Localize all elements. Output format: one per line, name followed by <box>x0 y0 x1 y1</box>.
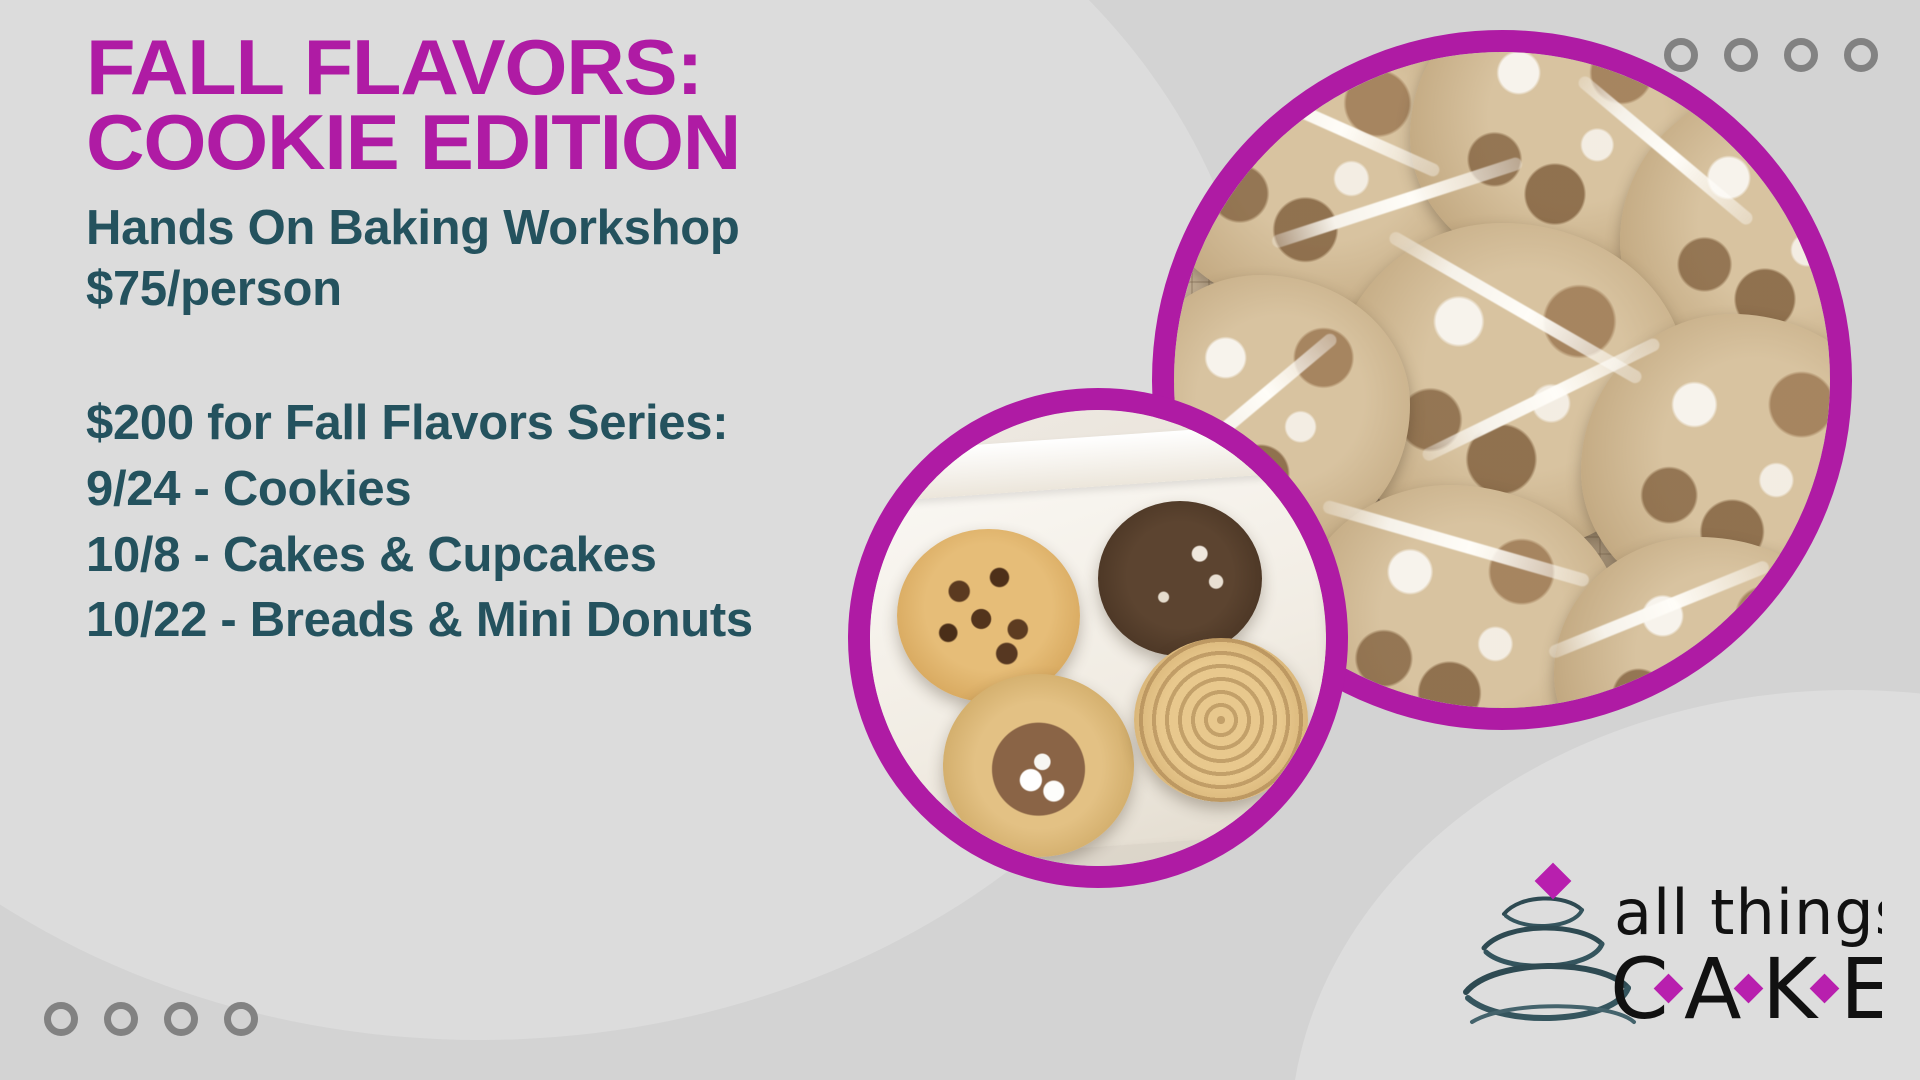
ring-icon <box>44 1002 78 1036</box>
poster-canvas: FALL FLAVORS: COOKIE EDITION Hands On Ba… <box>0 0 1920 1080</box>
cookie-double-chocolate <box>1098 501 1262 656</box>
series-item-1: 9/24 - Cookies <box>86 457 1006 523</box>
workshop-subtitle: Hands On Baking Workshop <box>86 198 1006 260</box>
cookie-swirl <box>1134 638 1307 802</box>
photo-image-assorted-cookies <box>870 410 1326 866</box>
decorative-rings-bottom-left <box>44 1002 258 1036</box>
ring-icon <box>224 1002 258 1036</box>
ring-icon <box>164 1002 198 1036</box>
logo-letter-e: E <box>1840 940 1882 1038</box>
brand-logo: all things C A K E <box>1462 852 1882 1052</box>
ring-icon <box>104 1002 138 1036</box>
subtitle-group: Hands On Baking Workshop $75/person <box>86 198 1006 321</box>
cookie-smores <box>943 674 1135 856</box>
photo-circle-assorted-cookies <box>848 388 1348 888</box>
ring-icon <box>1844 38 1878 72</box>
logo-text-all-things: all things <box>1614 876 1882 949</box>
page-title: FALL FLAVORS: COOKIE EDITION <box>86 30 1043 180</box>
logo-letter-a: A <box>1684 940 1741 1038</box>
diamond-topper-icon <box>1535 863 1572 900</box>
cake-tiers-icon <box>1466 898 1634 1022</box>
series-heading: $200 for Fall Flavors Series: <box>86 391 1006 457</box>
price-per-person: $75/person <box>86 259 1006 321</box>
